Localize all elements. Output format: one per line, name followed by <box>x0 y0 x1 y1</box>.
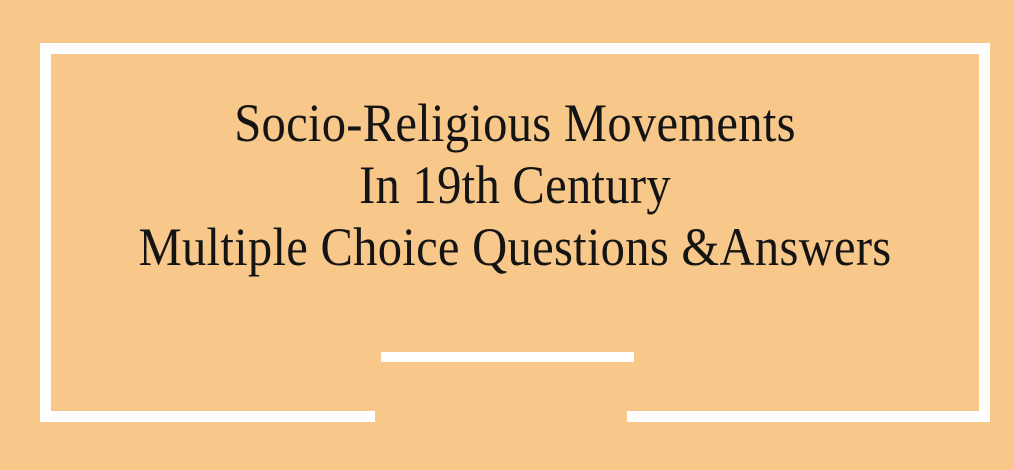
title-line-subject: Socio-Religious Movements <box>97 92 932 154</box>
frame-border-top <box>40 43 990 54</box>
poster-title-block: Socio-Religious Movements In 19th Centur… <box>51 92 979 278</box>
frame-border-right <box>979 43 990 422</box>
frame-border-bottom-left-segment <box>40 411 375 422</box>
title-divider-dash <box>381 352 634 362</box>
poster-canvas: Socio-Religious Movements In 19th Centur… <box>0 0 1013 470</box>
title-line-content-type: Multiple Choice Questions &Answers <box>97 216 932 278</box>
title-line-period: In 19th Century <box>97 154 932 216</box>
frame-border-bottom-right-segment <box>627 411 990 422</box>
frame-border-left <box>40 43 51 422</box>
